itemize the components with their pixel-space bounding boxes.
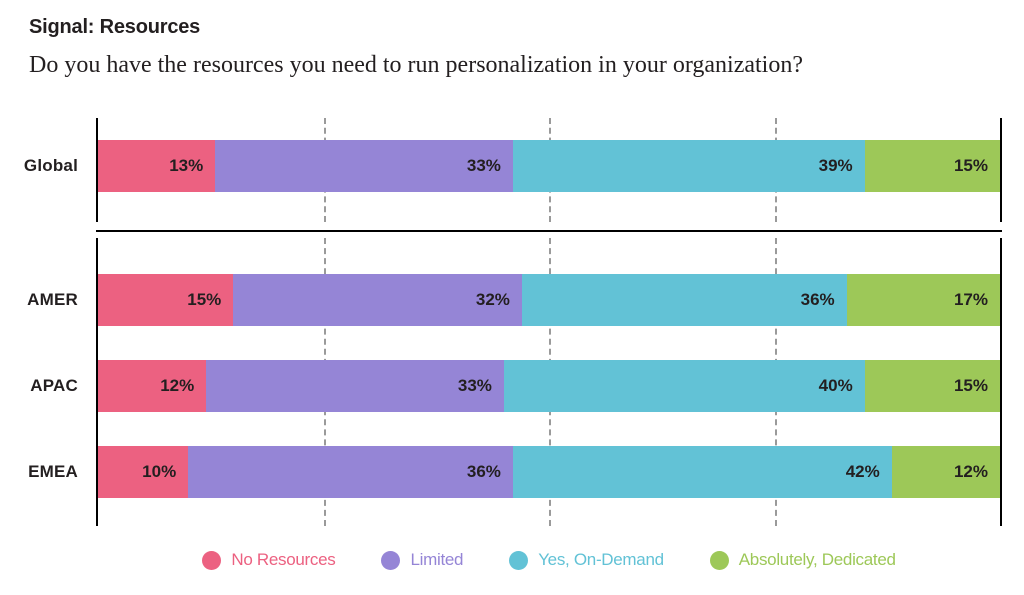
bar-segment[interactable]: 15%: [865, 360, 1000, 412]
chart-row: Global13%33%39%15%: [0, 140, 1024, 192]
bar-segment-value: 15%: [187, 290, 221, 310]
panel-divider: [96, 230, 1002, 232]
bar-segment-value: 33%: [458, 376, 492, 396]
bar-segment-value: 17%: [954, 290, 988, 310]
chart-row: APAC12%33%40%15%: [0, 360, 1024, 412]
bar-segment-value: 13%: [169, 156, 203, 176]
chart-page: Signal: Resources Do you have the resour…: [0, 0, 1024, 595]
legend-swatch-icon: [202, 551, 221, 570]
bar-segment-value: 12%: [954, 462, 988, 482]
bar-segment-value: 33%: [467, 156, 501, 176]
legend-item[interactable]: Limited: [381, 550, 463, 570]
bar-segment[interactable]: 12%: [892, 446, 1000, 498]
bar-segment[interactable]: 33%: [206, 360, 504, 412]
legend-label: No Resources: [231, 550, 335, 570]
legend-label: Absolutely, Dedicated: [739, 550, 896, 570]
stacked-bar: 12%33%40%15%: [98, 360, 1000, 412]
bar-segment-value: 40%: [819, 376, 853, 396]
row-label-global: Global: [0, 140, 78, 192]
chart-row: AMER15%32%36%17%: [0, 274, 1024, 326]
bar-segment[interactable]: 32%: [233, 274, 522, 326]
stacked-bar: 13%33%39%15%: [98, 140, 1000, 192]
bar-segment[interactable]: 36%: [188, 446, 513, 498]
bar-segment[interactable]: 15%: [98, 274, 233, 326]
legend-swatch-icon: [509, 551, 528, 570]
bar-segment[interactable]: 13%: [98, 140, 215, 192]
chart-plot-area: Global13%33%39%15%AMER15%32%36%17%APAC12…: [0, 110, 1024, 530]
bar-segment-value: 10%: [142, 462, 176, 482]
row-label-emea: EMEA: [0, 446, 78, 498]
bar-segment-value: 39%: [819, 156, 853, 176]
chart-row: EMEA10%36%42%12%: [0, 446, 1024, 498]
page-title: Signal: Resources: [29, 16, 200, 39]
bar-segment-value: 36%: [467, 462, 501, 482]
bar-segment-value: 42%: [846, 462, 880, 482]
bar-segment[interactable]: 39%: [513, 140, 865, 192]
legend-label: Limited: [410, 550, 463, 570]
row-label-amer: AMER: [0, 274, 78, 326]
bar-segment-value: 32%: [476, 290, 510, 310]
legend-item[interactable]: Absolutely, Dedicated: [710, 550, 896, 570]
chart-legend: No ResourcesLimitedYes, On-DemandAbsolut…: [96, 540, 1002, 580]
chart-subtitle: Do you have the resources you need to ru…: [29, 52, 803, 79]
bar-segment-value: 36%: [801, 290, 835, 310]
bar-segment[interactable]: 33%: [215, 140, 513, 192]
legend-swatch-icon: [381, 551, 400, 570]
bar-segment[interactable]: 40%: [504, 360, 865, 412]
bar-segment[interactable]: 17%: [847, 274, 1000, 326]
legend-item[interactable]: Yes, On-Demand: [509, 550, 664, 570]
bar-segment[interactable]: 12%: [98, 360, 206, 412]
legend-item[interactable]: No Resources: [202, 550, 335, 570]
bar-segment[interactable]: 42%: [513, 446, 892, 498]
bar-segment-value: 15%: [954, 156, 988, 176]
stacked-bar: 15%32%36%17%: [98, 274, 1000, 326]
bar-segment[interactable]: 15%: [865, 140, 1000, 192]
legend-swatch-icon: [710, 551, 729, 570]
bar-segment-value: 15%: [954, 376, 988, 396]
legend-label: Yes, On-Demand: [538, 550, 664, 570]
bar-segment[interactable]: 36%: [522, 274, 847, 326]
bar-segment-value: 12%: [160, 376, 194, 396]
bar-segment[interactable]: 10%: [98, 446, 188, 498]
row-label-apac: APAC: [0, 360, 78, 412]
stacked-bar: 10%36%42%12%: [98, 446, 1000, 498]
